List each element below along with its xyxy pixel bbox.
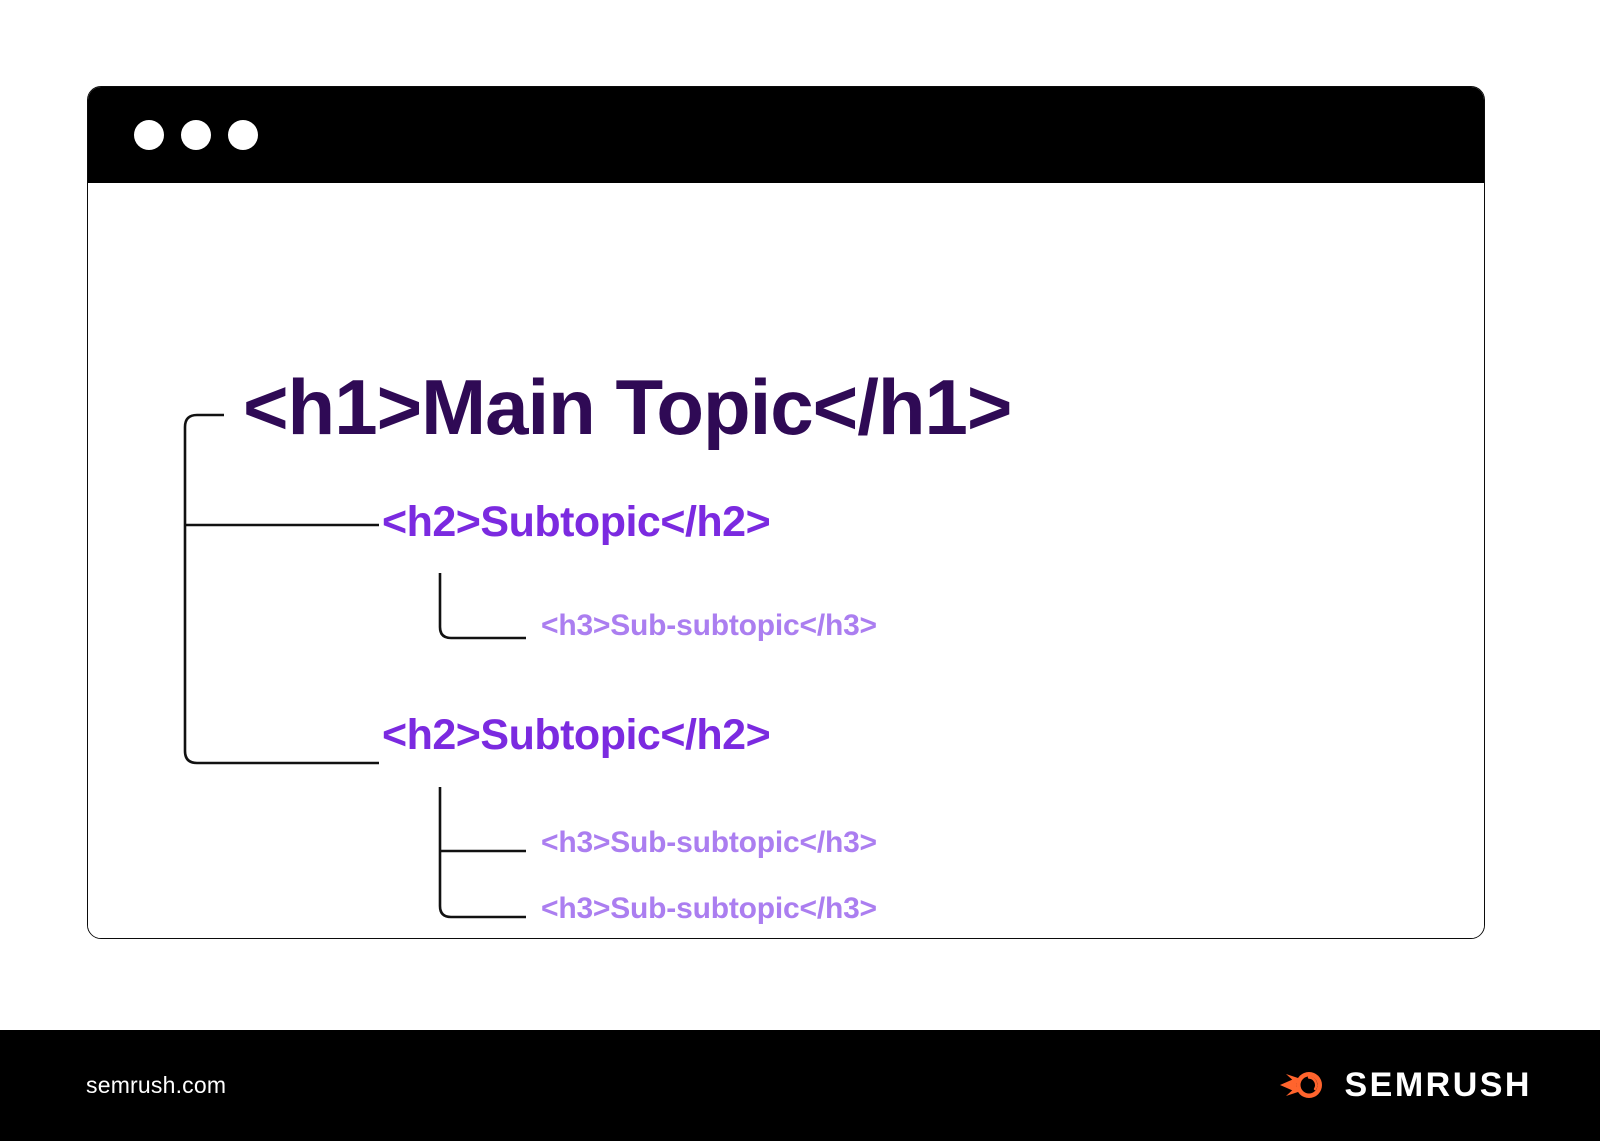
heading-node-h3-second: <h3>Sub-subtopic</h3> (541, 828, 877, 858)
heading-node-h1: <h1>Main Topic</h1> (243, 368, 1011, 446)
heading-node-h3-third: <h3>Sub-subtopic</h3> (541, 894, 877, 924)
browser-window-mock: <h1>Main Topic</h1> <h2>Subtopic</h2> <h… (87, 86, 1485, 939)
window-dot-close-icon[interactable] (134, 120, 164, 150)
browser-viewport: <h1>Main Topic</h1> <h2>Subtopic</h2> <h… (88, 183, 1484, 938)
semrush-wordmark: SEMRUSH (1344, 1066, 1532, 1105)
window-dot-minimize-icon[interactable] (181, 120, 211, 150)
footer-bar: semrush.com SEMRUSH (0, 1030, 1600, 1141)
window-dot-maximize-icon[interactable] (228, 120, 258, 150)
branch-h3-third (440, 787, 526, 917)
semrush-logo: SEMRUSH (1278, 1066, 1532, 1106)
heading-node-h2-first: <h2>Subtopic</h2> (382, 501, 770, 544)
footer-url-label: semrush.com (86, 1072, 226, 1099)
branch-h3-first (440, 573, 526, 638)
semrush-comet-icon (1278, 1066, 1330, 1106)
trunk-path (185, 415, 379, 763)
heading-node-h3-first: <h3>Sub-subtopic</h3> (541, 611, 877, 641)
browser-titlebar (88, 87, 1484, 183)
heading-node-h2-second: <h2>Subtopic</h2> (382, 714, 770, 757)
